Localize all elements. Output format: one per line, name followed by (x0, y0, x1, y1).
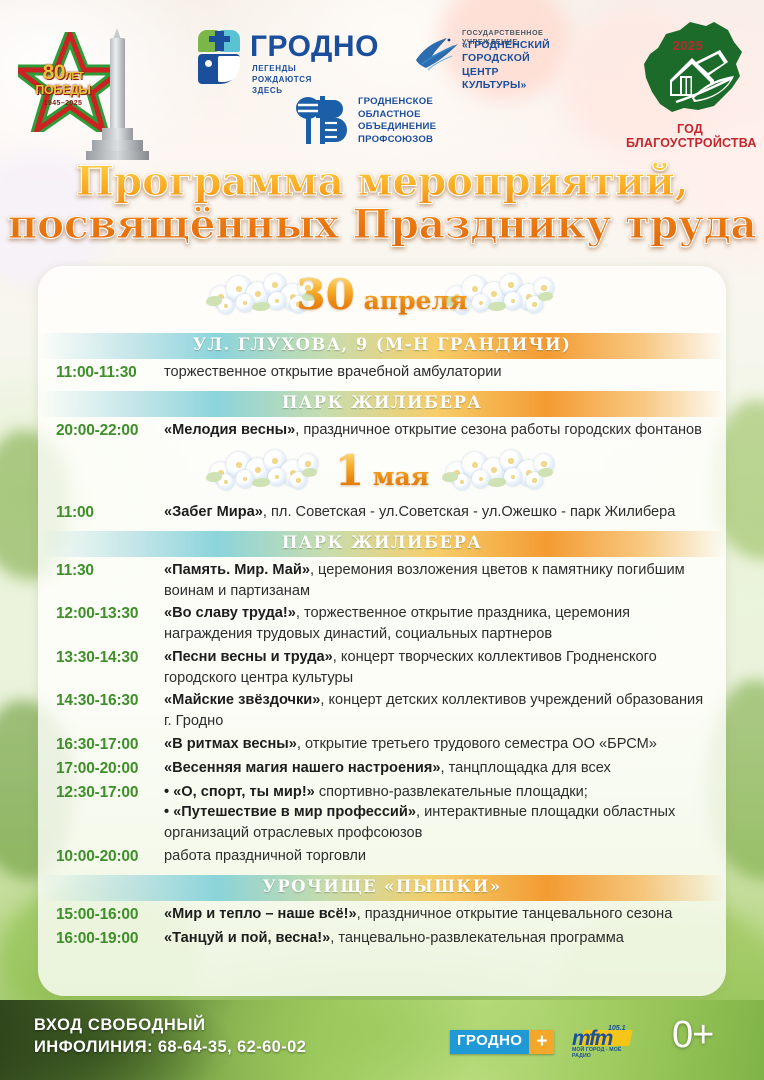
event-time: 14:30-16:30 (56, 690, 164, 712)
date-month-name: апреля (355, 286, 468, 315)
date-day-number: 30 (296, 270, 354, 319)
mfm-wordmark: mfm (572, 1028, 636, 1049)
event-title: «Песни весны и труда» (164, 649, 333, 665)
event-list: 11:00-11:30торжественное открытие врачеб… (38, 362, 726, 384)
event-title: «Мир и тепло – наше всё!» (164, 906, 357, 922)
victory-line2: ПОБЕДЫ (26, 84, 100, 97)
trade-union-emblem-icon (292, 92, 354, 150)
event-description: • «О, спорт, ты мир!» спортивно-развлека… (164, 782, 710, 844)
event-time: 12:00-13:30 (56, 603, 164, 625)
event-title: «Танцуй и пой, весна!» (164, 930, 330, 946)
event-row: 17:00-20:00«Весенняя магия нашего настро… (56, 758, 710, 780)
emblem-caption: ГОД БЛАГОУСТРОЙСТВА (626, 122, 754, 150)
poster-footer: ВХОД СВОБОДНЫЙ ИНФОЛИНИЯ: 68-64-35, 62-6… (0, 1000, 764, 1080)
venue-header: УЛ. ГЛУХОВА, 9 (М-Н ГРАНДИЧИ) (38, 333, 726, 359)
emblem-year: 2025 (632, 38, 744, 53)
event-row: 11:00«Забег Мира», пл. Советская - ул.Со… (56, 502, 710, 524)
event-description: «Забег Мира», пл. Советская - ул.Советск… (164, 502, 710, 523)
event-row: 11:30«Память. Мир. Май», церемония возло… (56, 560, 710, 601)
mfm-frequency: 105.1 (608, 1025, 626, 1032)
event-row: 20:00-22:00«Мелодия весны», праздничное … (56, 420, 710, 442)
event-row: 16:30-17:00«В ритмах весны», открытие тр… (56, 734, 710, 756)
grodno-plus-sign: + (529, 1030, 554, 1054)
event-description: «Весенняя магия нашего настроения», танц… (164, 758, 710, 779)
victory-dates: 1945–2025 (26, 100, 100, 107)
event-time: 12:30-17:00 (56, 782, 164, 804)
grodno-emblem-icon (198, 30, 242, 84)
mfm-slogan: МОЙ ГОРОД - МОЁ РАДИО (572, 1047, 638, 1059)
free-entry-text: ВХОД СВОБОДНЫЙ (34, 1016, 206, 1035)
event-time: 10:00-20:00 (56, 846, 164, 868)
event-bullet: • «Путешествие в мир профессий», интерак… (164, 802, 710, 843)
event-time: 16:00-19:00 (56, 928, 164, 950)
venue-header: ПАРК ЖИЛИБЕРА (38, 531, 726, 557)
event-description: «Мелодия весны», праздничное открытие се… (164, 420, 710, 441)
date-month-name: мая (364, 462, 429, 491)
event-title: «Память. Мир. Май» (164, 562, 310, 578)
poster-root: 80ЛЕТ ПОБЕДЫ 1945–2025 ГРОДНО ЛЕГЕНДЫРОЖ… (0, 0, 764, 1080)
event-description: торжественное открытие врачебной амбулат… (164, 362, 710, 383)
event-time: 11:00-11:30 (56, 362, 164, 384)
date-day-number: 1 (335, 446, 364, 495)
grodno-plus-logo: ГРОДНО + (450, 1030, 554, 1054)
event-time: 15:00-16:00 (56, 904, 164, 926)
grodno-plus-word: ГРОДНО (450, 1030, 529, 1054)
bird-icon (414, 34, 460, 76)
belarus-map-icon (636, 18, 748, 118)
event-time: 13:30-14:30 (56, 647, 164, 669)
venue-header: ПАРК ЖИЛИБЕРА (38, 391, 726, 417)
event-list: 11:00«Забег Мира», пл. Советская - ул.Со… (38, 502, 726, 524)
culture-center-name: «ГРОДНЕНСКИЙГОРОДСКОЙЦЕНТР КУЛЬТУРЫ» (462, 39, 550, 93)
venue-name: ПАРК ЖИЛИБЕРА (38, 533, 726, 552)
event-title: • «Путешествие в мир профессий» (164, 804, 416, 820)
date-banner: 30 апреля (38, 270, 726, 326)
event-title: «В ритмах весны» (164, 736, 297, 752)
event-list: 11:30«Память. Мир. Май», церемония возло… (38, 560, 726, 868)
event-row: 12:30-17:00• «О, спорт, ты мир!» спортив… (56, 782, 710, 844)
mfm-radio-logo: mfm 105.1 МОЙ ГОРОД - МОЁ РАДИО (572, 1026, 636, 1058)
event-time: 11:30 (56, 560, 164, 582)
venue-header: УРОЧИЩЕ «ПЫШКИ» (38, 875, 726, 901)
venue-name: УЛ. ГЛУХОВА, 9 (М-Н ГРАНДИЧИ) (38, 335, 726, 354)
event-description: «Танцуй и пой, весна!», танцевально-разв… (164, 928, 710, 949)
event-row: 12:00-13:30«Во славу труда!», торжествен… (56, 603, 710, 644)
event-time: 11:00 (56, 502, 164, 524)
poster-title: Программа мероприятий, посвящённых Празд… (0, 160, 764, 246)
event-bullet: • «О, спорт, ты мир!» спортивно-развлека… (164, 782, 710, 803)
event-list: 15:00-16:00«Мир и тепло – наше всё!», пр… (38, 904, 726, 950)
victory-number: 80 (43, 61, 65, 84)
title-line-2: посвящённых Празднику труда (0, 203, 764, 246)
event-title: «Весенняя магия нашего настроения» (164, 760, 441, 776)
venue-name: УРОЧИЩЕ «ПЫШКИ» (38, 877, 726, 896)
victory-80-years-logo: 80ЛЕТ ПОБЕДЫ 1945–2025 (18, 28, 128, 138)
event-row: 16:00-19:00«Танцуй и пой, весна!», танце… (56, 928, 710, 950)
event-time: 16:30-17:00 (56, 734, 164, 756)
victory-years-word: ЛЕТ (65, 71, 83, 82)
event-row: 14:30-16:30«Майские звёздочки», концерт … (56, 690, 710, 731)
year-of-improvement-emblem: 2025 ГОД БЛАГОУСТРОЙСТВА (632, 18, 756, 148)
event-row: 10:00-20:00работа праздничной торговли (56, 846, 710, 868)
event-row: 11:00-11:30торжественное открытие врачеб… (56, 362, 710, 384)
event-title: • «О, спорт, ты мир!» (164, 784, 315, 800)
date-banner: 1 мая (38, 446, 726, 502)
victory-badge-text: 80ЛЕТ ПОБЕДЫ 1945–2025 (26, 62, 100, 107)
event-title: «Во славу труда!» (164, 605, 296, 621)
trade-unions-name: ГРОДНЕНСКОЕОБЛАСТНОЕОБЪЕДИНЕНИЕПРОФСОЮЗО… (358, 96, 436, 147)
event-description: «Майские звёздочки», концерт детских кол… (164, 690, 710, 731)
event-description: «Песни весны и труда», концерт творчески… (164, 647, 710, 688)
logo-strip: 80ЛЕТ ПОБЕДЫ 1945–2025 ГРОДНО ЛЕГЕНДЫРОЖ… (0, 0, 764, 168)
event-row: 13:30-14:30«Песни весны и труда», концер… (56, 647, 710, 688)
event-description: работа праздничной торговли (164, 846, 710, 867)
event-description: «В ритмах весны», открытие третьего труд… (164, 734, 710, 755)
event-title: «Мелодия весны» (164, 422, 295, 438)
event-description: «Мир и тепло – наше всё!», праздничное о… (164, 904, 710, 925)
event-title: «Забег Мира» (164, 504, 263, 520)
venue-name: ПАРК ЖИЛИБЕРА (38, 393, 726, 412)
event-description: «Во славу труда!», торжественное открыти… (164, 603, 710, 644)
title-line-1: Программа мероприятий, (76, 158, 689, 205)
event-row: 15:00-16:00«Мир и тепло – наше всё!», пр… (56, 904, 710, 926)
event-description: «Память. Мир. Май», церемония возложения… (164, 560, 710, 601)
schedule-card: 30 апреляУЛ. ГЛУХОВА, 9 (М-Н ГРАНДИЧИ)11… (38, 266, 726, 996)
grodno-wordmark: ГРОДНО (250, 32, 379, 62)
event-time: 20:00-22:00 (56, 420, 164, 442)
event-title: «Майские звёздочки» (164, 692, 320, 708)
age-rating: 0+ (672, 1014, 713, 1057)
event-list: 20:00-22:00«Мелодия весны», праздничное … (38, 420, 726, 442)
event-time: 17:00-20:00 (56, 758, 164, 780)
infoline-text: ИНФОЛИНИЯ: 68-64-35, 62-60-02 (34, 1038, 306, 1057)
